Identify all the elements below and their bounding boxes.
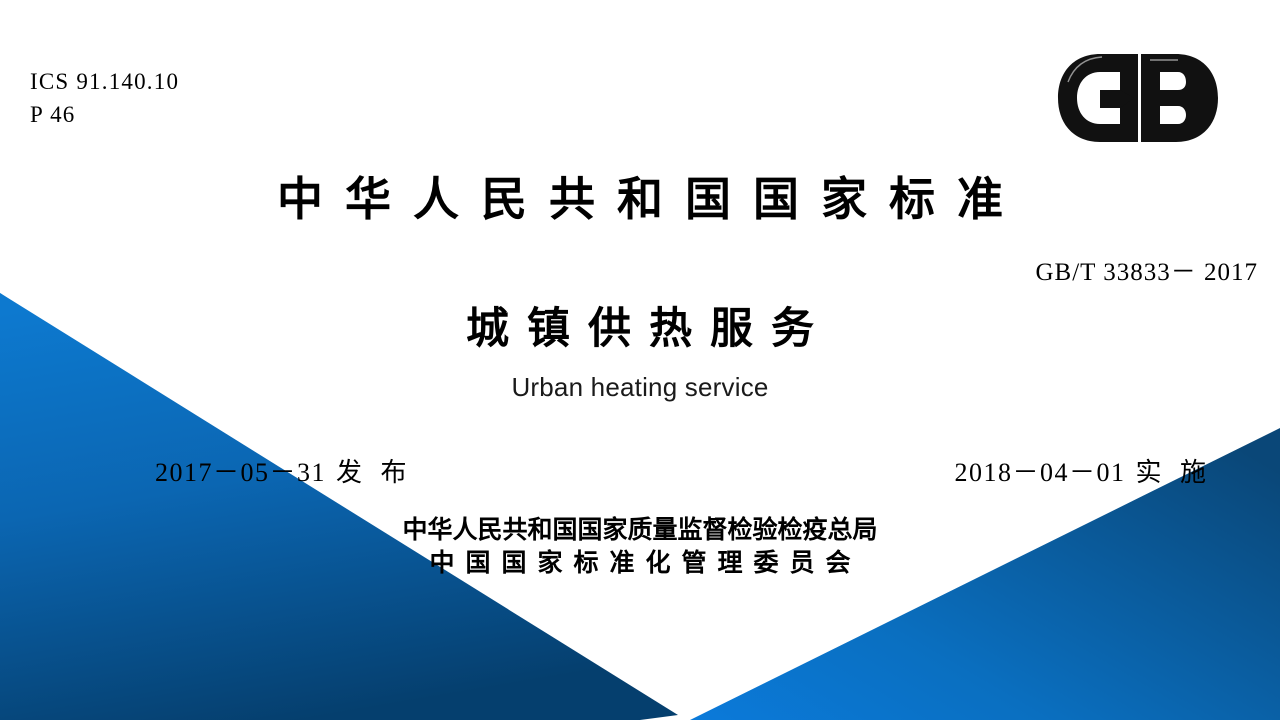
left-blue-triangle: [0, 293, 640, 720]
gb-emblem-icon: [1054, 52, 1222, 144]
page-title: 中华人民共和国国家标准: [0, 163, 1280, 229]
standard-cover-page: ICS 91.140.10 P 46 中华人民共和国国家标准 GB/T 3383…: [0, 0, 1280, 720]
effective-action-label: 实 施: [1135, 458, 1212, 487]
issuer-primary: 中华人民共和国国家质量监督检验检疫总局: [0, 514, 1280, 547]
issuing-authorities: 中华人民共和国国家质量监督检验检疫总局 中国国家标准化管理委员会: [0, 514, 1280, 580]
left-blue-wedge: [0, 293, 678, 720]
issuer-secondary: 中国国家标准化管理委员会: [0, 547, 1280, 580]
issue-date: 2017－05－31: [155, 458, 326, 487]
issue-date-group: 2017－05－31发 布: [155, 452, 413, 489]
document-title-english: Urban heating service: [0, 372, 1280, 403]
issue-action-label: 发 布: [336, 458, 413, 487]
standard-designation: GB/T 33833－ 2017: [1036, 252, 1259, 288]
classification-code: P 46: [30, 99, 179, 132]
effective-date-group: 2018－04－01实 施: [954, 452, 1212, 489]
classification-meta: ICS 91.140.10 P 46: [30, 66, 179, 131]
document-title-chinese: 城镇供热服务: [0, 294, 1280, 356]
date-row: 2017－05－31发 布 2018－04－01实 施: [0, 452, 1280, 488]
effective-date: 2018－04－01: [954, 458, 1125, 487]
ics-code: ICS 91.140.10: [30, 66, 179, 99]
